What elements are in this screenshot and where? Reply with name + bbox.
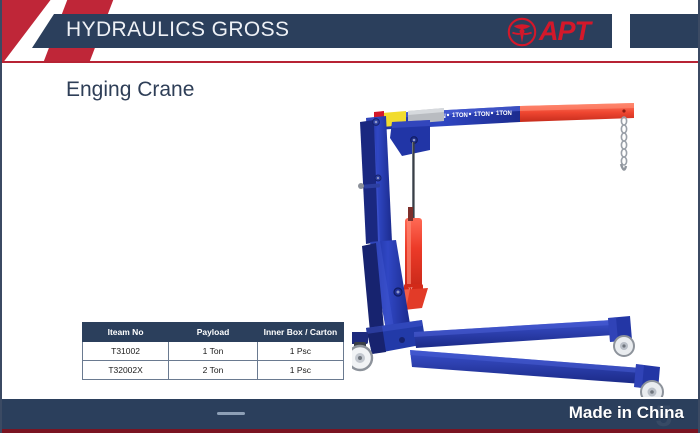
cell-payload: 2 Ton: [169, 361, 258, 380]
footer-bottom-red-rule: [2, 429, 700, 433]
apt-logo: APT: [507, 15, 623, 48]
table-header-row: Iteam No Payload Inner Box / Carton: [83, 323, 344, 342]
specification-table: Iteam No Payload Inner Box / Carton T310…: [82, 322, 344, 380]
product-image-engine-crane: 1TON 1TON 1TON 1TON: [352, 92, 697, 397]
cell-payload: 1 Ton: [169, 342, 258, 361]
header-navy-block-right: [630, 14, 700, 48]
slide-footer: 5 Made in China: [2, 399, 700, 429]
svg-text:1TON: 1TON: [496, 111, 512, 117]
footer-made-in-china-label: Made in China: [569, 403, 684, 423]
cell-item-no: T31002: [83, 342, 169, 361]
apt-logo-text: APT: [539, 18, 590, 45]
slide-header: HYDRAULICS GROSS APT: [2, 0, 700, 63]
slide-canvas: HYDRAULICS GROSS APT Enging Crane: [0, 0, 700, 433]
svg-text:1TON: 1TON: [452, 113, 468, 119]
column-header-item-no: Iteam No: [83, 323, 169, 342]
footer-divider-dash: [217, 412, 245, 415]
header-bottom-red-rule: [2, 61, 700, 63]
page-title: Enging Crane: [66, 78, 194, 102]
cell-inner-box: 1 Psc: [257, 361, 343, 380]
column-header-payload: Payload: [169, 323, 258, 342]
svg-text:1TON: 1TON: [474, 112, 490, 118]
cell-inner-box: 1 Psc: [257, 342, 343, 361]
header-banner-title: HYDRAULICS GROSS: [66, 18, 289, 42]
table-row: T31002 1 Ton 1 Psc: [83, 342, 344, 361]
cell-item-no: T32002X: [83, 361, 169, 380]
table-row: T32002X 2 Ton 1 Psc: [83, 361, 344, 380]
apt-bull-emblem-icon: [507, 17, 537, 47]
column-header-inner-box: Inner Box / Carton: [257, 323, 343, 342]
